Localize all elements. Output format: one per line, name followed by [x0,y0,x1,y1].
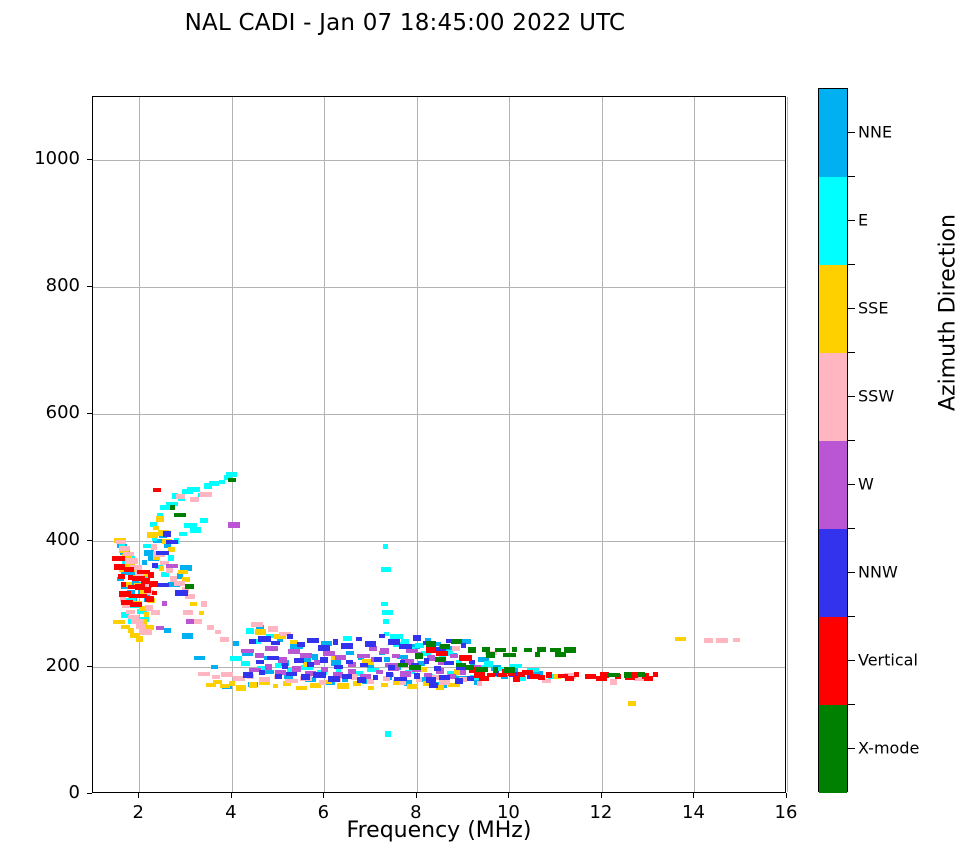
data-mark [163,531,171,537]
data-mark [149,581,158,587]
data-mark [215,630,221,634]
colorbar-boundary-tick [848,352,855,353]
data-mark [452,646,460,651]
data-mark [156,551,169,555]
data-mark [307,638,319,643]
data-mark [357,677,366,683]
data-mark [301,674,310,680]
colorbar-segment [819,89,847,177]
data-mark [126,610,135,614]
data-mark [512,647,517,652]
data-mark [190,527,201,533]
data-mark [241,661,250,666]
data-mark [182,633,193,639]
colorbar-tick [848,132,855,133]
colorbar-tick [848,572,855,573]
data-mark [356,637,362,641]
colorbar-segment [819,617,847,705]
data-mark [160,505,170,510]
data-mark [220,637,229,642]
data-mark [112,556,125,561]
data-mark [128,615,139,619]
data-mark [259,677,270,682]
y-tick-mark [87,666,92,667]
data-mark [183,610,193,615]
data-points-layer [93,97,785,792]
data-mark [477,681,482,686]
data-mark [201,601,207,607]
data-mark [381,567,391,572]
data-mark [334,665,343,669]
data-mark [199,611,204,615]
data-mark [381,602,388,606]
y-tick-mark [87,793,92,794]
data-mark [170,505,175,510]
data-mark [185,584,194,589]
data-mark [320,657,328,663]
data-mark [273,684,278,688]
data-mark [166,564,178,568]
data-mark [675,637,686,641]
data-mark [286,672,297,676]
y-tick-label: 200 [12,655,80,676]
data-mark [166,568,173,573]
data-mark [574,672,579,677]
data-mark [166,540,178,544]
y-tick-mark [87,413,92,414]
colorbar-label: X-mode [858,739,919,758]
data-mark [346,660,353,664]
chart-title: NAL CADI - Jan 07 18:45:00 2022 UTC [0,10,810,36]
data-mark [436,651,448,656]
data-mark [175,590,188,596]
data-mark [282,663,288,669]
data-mark [335,655,346,660]
y-tick-mark [87,286,92,287]
data-mark [376,670,383,674]
data-mark [130,602,142,607]
data-mark [200,492,212,497]
data-mark [407,684,418,689]
data-mark [198,672,210,676]
data-mark [267,656,279,660]
data-mark [328,676,340,682]
data-mark [383,544,388,549]
data-mark [156,626,164,630]
data-mark [285,679,298,683]
data-mark [275,674,282,679]
data-mark [288,649,300,654]
data-mark [119,546,130,551]
y-tick-mark [87,159,92,160]
data-mark [271,641,280,645]
data-mark [424,658,429,664]
colorbar-label: W [858,475,874,494]
colorbar-tick [848,660,855,661]
data-mark [249,682,257,688]
data-mark [450,654,458,658]
data-mark [118,574,125,579]
y-tick-label: 1000 [12,148,80,169]
data-mark [159,566,164,571]
data-mark [439,680,450,685]
data-mark [113,620,125,624]
data-mark [716,638,728,643]
data-mark [460,670,466,675]
data-mark [190,497,199,502]
x-tick-mark [693,793,694,798]
data-mark [493,667,498,673]
data-mark [342,674,352,679]
data-mark [538,675,545,680]
data-mark [382,610,393,615]
gridline-vertical [787,97,788,792]
plot-area [92,96,786,793]
colorbar-boundary-tick [848,264,855,265]
data-mark [608,673,620,677]
x-tick-mark [138,793,139,798]
data-mark [346,651,354,655]
data-mark [399,680,406,685]
data-mark [194,656,205,660]
y-axis-label-wrap: Virtual height (km) [0,295,168,335]
y-tick-label: 0 [12,782,80,803]
data-mark [409,665,421,670]
data-mark [384,657,390,662]
data-mark [380,648,389,654]
data-mark [440,644,450,649]
colorbar-tick [848,396,855,397]
data-mark [439,675,450,680]
colorbar-segment [819,353,847,441]
x-tick-mark [786,793,787,798]
data-mark [228,522,240,528]
data-mark [233,641,239,646]
data-mark [596,676,607,681]
data-mark [704,638,713,643]
data-mark [318,645,330,651]
data-mark [357,654,370,658]
colorbar-label: NNE [858,123,892,142]
data-mark [434,666,441,671]
colorbar-segment [819,441,847,529]
data-mark [294,658,304,663]
data-mark [186,619,194,624]
data-mark [151,610,160,615]
data-mark [200,518,208,523]
data-mark [456,663,466,667]
data-mark [144,612,149,617]
data-mark [256,660,264,664]
data-mark [147,532,158,538]
data-mark [513,676,520,682]
colorbar-segment [819,529,847,617]
y-tick-label: 600 [12,402,80,423]
data-mark [145,596,154,602]
data-mark [343,636,352,641]
data-mark [468,647,476,653]
colorbar-tick [848,748,855,749]
data-mark [226,472,237,477]
data-mark [486,652,495,658]
data-mark [426,641,436,647]
data-mark [168,547,175,552]
data-mark [249,639,256,644]
data-mark [278,657,287,663]
data-mark [246,628,254,634]
data-mark [219,480,225,484]
data-mark [158,583,169,587]
data-mark [341,643,353,649]
data-mark [275,663,281,668]
data-mark [179,532,187,536]
colorbar-boundary-tick [848,704,855,705]
data-mark [142,560,147,565]
data-mark [565,676,574,681]
y-tick-label: 400 [12,529,80,550]
data-mark [212,675,220,679]
colorbar-boundary-tick [848,528,855,529]
colorbar-segment [819,177,847,265]
data-mark [386,672,393,677]
data-mark [610,679,617,685]
data-mark [524,648,532,652]
data-mark [323,651,335,656]
data-mark [307,662,314,667]
data-mark [139,629,152,635]
data-mark [337,683,349,689]
data-mark [265,664,272,670]
data-mark [466,665,474,670]
data-mark [255,653,264,658]
colorbar-boundary-tick [848,176,855,177]
data-mark [385,731,391,737]
data-mark [394,677,407,681]
colorbar-tick [848,220,855,221]
data-mark [187,487,200,492]
data-mark [628,701,636,706]
colorbar [818,88,848,792]
data-mark [479,676,489,681]
x-tick-mark [323,793,324,798]
data-mark [152,591,157,595]
data-mark [116,540,126,544]
data-mark [296,686,307,690]
data-mark [535,652,540,657]
x-tick-mark [601,793,602,798]
data-mark [451,639,462,644]
data-mark [229,681,235,686]
data-mark [178,570,188,574]
data-mark [236,685,246,691]
data-mark [484,661,493,667]
data-mark [585,674,596,679]
data-mark [333,639,338,645]
data-mark [243,672,253,678]
data-mark [153,488,161,492]
data-mark [522,670,533,675]
data-mark [415,653,423,659]
data-mark [319,680,326,685]
data-mark [550,648,561,652]
data-mark [151,544,157,550]
colorbar-title: Azimuth Direction [936,163,958,463]
data-mark [241,649,254,653]
data-mark [124,567,134,572]
y-tick-mark [87,540,92,541]
data-mark [176,494,185,499]
data-mark [211,665,218,669]
data-mark [414,673,420,679]
data-mark [190,602,197,606]
data-mark [251,622,263,627]
data-mark [373,675,378,680]
colorbar-segment [819,705,847,793]
data-mark [255,629,266,635]
data-mark [444,661,454,665]
data-mark [504,667,515,673]
data-mark [624,672,631,678]
data-mark [388,665,395,670]
data-mark [268,626,278,632]
data-mark [392,654,400,658]
data-mark [476,667,488,672]
x-tick-mark [416,793,417,798]
data-mark [381,683,388,687]
data-mark [374,657,382,662]
data-mark [503,653,516,657]
colorbar-boundary-tick [848,440,855,441]
data-mark [125,558,138,564]
data-mark [313,672,326,678]
data-mark [455,678,463,684]
data-mark [136,636,143,642]
data-mark [162,601,167,606]
data-mark [265,646,278,651]
data-mark [415,643,424,648]
data-mark [398,663,408,667]
data-mark [435,657,446,662]
data-mark [546,672,552,678]
data-mark [156,516,164,522]
data-mark [638,672,645,677]
data-mark [383,619,389,624]
data-mark [379,634,385,638]
data-mark [644,676,653,681]
x-tick-mark [231,793,232,798]
colorbar-label: Vertical [858,651,918,670]
colorbar-tick [848,484,855,485]
data-mark [207,625,214,630]
data-mark [259,670,265,675]
data-mark [144,587,151,593]
data-mark [121,582,126,587]
data-mark [495,648,506,652]
data-mark [287,634,293,639]
colorbar-label: NNW [858,563,898,582]
data-mark [228,478,236,482]
data-mark [174,513,186,517]
data-mark [399,644,412,649]
colorbar-title-wrap: Azimuth Direction [798,300,958,340]
data-mark [297,642,305,647]
data-mark [733,638,740,642]
y-tick-label: 800 [12,275,80,296]
colorbar-label: E [858,211,868,230]
data-mark [258,636,271,642]
data-mark [368,686,374,690]
data-mark [459,655,472,661]
colorbar-boundary-tick [848,616,855,617]
data-mark [152,563,158,568]
x-tick-mark [508,793,509,798]
data-mark [360,663,368,667]
colorbar-label: SSW [858,387,894,406]
data-mark [555,652,566,657]
data-mark [365,641,376,647]
data-mark [469,660,475,664]
x-axis-label: Frequency (MHz) [92,818,786,843]
data-mark [429,683,438,688]
data-mark [148,572,154,578]
data-mark [653,672,658,677]
data-mark [467,676,474,681]
data-mark [413,635,421,641]
data-mark [221,672,233,677]
data-mark [164,628,171,633]
